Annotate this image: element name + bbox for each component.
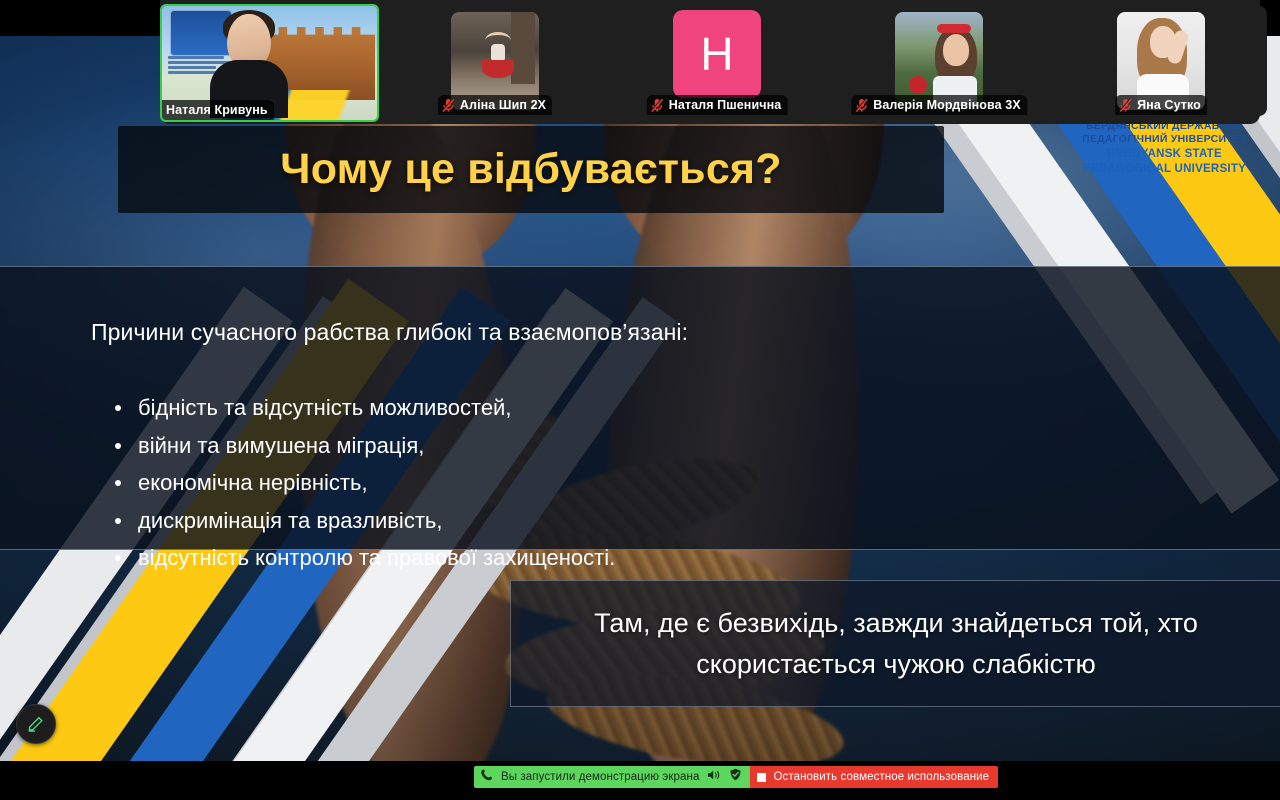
slide-lead-text: Причини сучасного рабства глибокі та вза… <box>91 319 688 346</box>
annotate-toggle-button[interactable] <box>16 704 56 744</box>
university-line-3: BERDYANSK STATE <box>1057 147 1272 162</box>
phone-icon <box>480 768 493 787</box>
participant-name-bar: Аліна Шип 2Х <box>438 95 552 115</box>
mic-muted-icon <box>651 98 664 113</box>
slide-quote-box: Там, де є безвихідь, завжди знайдеться т… <box>510 580 1280 707</box>
participant-name-bar: Наталя Кривунь <box>162 100 274 120</box>
participant-name: Валерія Мордвінова 3Х <box>873 98 1021 112</box>
participant-tile[interactable]: Аліна Шип 2Х <box>389 6 601 116</box>
university-logo-text: БЕРДЯНСЬКИЙ ДЕРЖАВНИЙ ПЕДАГОГІЧНИЙ УНІВЕ… <box>1057 120 1272 176</box>
participant-name-bar: Яна Сутко <box>1115 95 1207 115</box>
university-line-4: PEDAGOGICAL UNIVERSITY <box>1057 162 1272 177</box>
mic-muted-icon <box>855 98 868 113</box>
stop-share-button[interactable]: Остановить совместное использование <box>750 766 998 788</box>
speaker-icon[interactable] <box>707 768 721 786</box>
zoom-screen-share-window: БЕРДЯНСЬКИЙ ДЕРЖАВНИЙ ПЕДАГОГІЧНИЙ УНІВЕ… <box>0 0 1280 800</box>
participant-tile[interactable]: Валерія Мордвінова 3Х <box>833 6 1045 116</box>
avatar-letter: Н <box>700 31 733 77</box>
participant-name: Яна Сутко <box>1137 98 1201 112</box>
avatar: Н <box>673 10 761 98</box>
participant-name: Наталя Пшенична <box>669 98 782 112</box>
list-item: економічна нерівність, <box>112 464 615 502</box>
participant-tile[interactable]: Яна Сутко <box>1055 6 1267 116</box>
participant-name: Аліна Шип 2Х <box>460 98 546 112</box>
participant-filmstrip[interactable]: Наталя Кривунь <box>160 0 1260 124</box>
participant-tile-active-speaker[interactable]: Наталя Кривунь <box>160 4 379 122</box>
stop-share-label: Остановить совместное использование <box>773 771 989 783</box>
slide-body-panel: Причини сучасного рабства глибокі та вза… <box>0 266 1280 550</box>
participant-name-bar: Наталя Пшенична <box>647 95 788 115</box>
screen-share-status-bar[interactable]: Вы запустили демонстрацию экрана Останов… <box>474 766 998 788</box>
list-item: дискримінація та вразливість, <box>112 502 615 540</box>
share-status-text: Вы запустили демонстрацию экрана <box>501 771 699 783</box>
share-status-left: Вы запустили демонстрацию экрана <box>474 766 750 788</box>
participant-tile[interactable]: Н Наталя Пшенична <box>611 6 823 116</box>
stop-square-icon <box>757 773 766 782</box>
slide-title: Чому це відбувається? <box>280 145 781 194</box>
mic-muted-icon <box>1119 98 1132 113</box>
list-item: бідність та відсутність можливостей, <box>112 389 615 427</box>
participant-name-bar: Валерія Мордвінова 3Х <box>851 95 1027 115</box>
shared-slide-area: БЕРДЯНСЬКИЙ ДЕРЖАВНИЙ ПЕДАГОГІЧНИЙ УНІВЕ… <box>0 36 1280 761</box>
list-item: війни та вимушена міграція, <box>112 427 615 465</box>
list-item: відсутність контролю та правової захищен… <box>112 539 615 577</box>
shield-icon[interactable] <box>729 768 742 786</box>
participant-name: Наталя Кривунь <box>166 103 268 117</box>
university-line-2: ПЕДАГОГІЧНИЙ УНІВЕРСИТЕТ <box>1057 133 1272 146</box>
mic-muted-icon <box>442 98 455 113</box>
slide-quote-text: Там, де є безвихідь, завжди знайдеться т… <box>511 603 1280 685</box>
slide-title-band: Чому це відбувається? <box>118 126 944 213</box>
pencil-annotate-icon <box>26 714 46 734</box>
slide-bullet-list: бідність та відсутність можливостей, вій… <box>112 389 615 577</box>
